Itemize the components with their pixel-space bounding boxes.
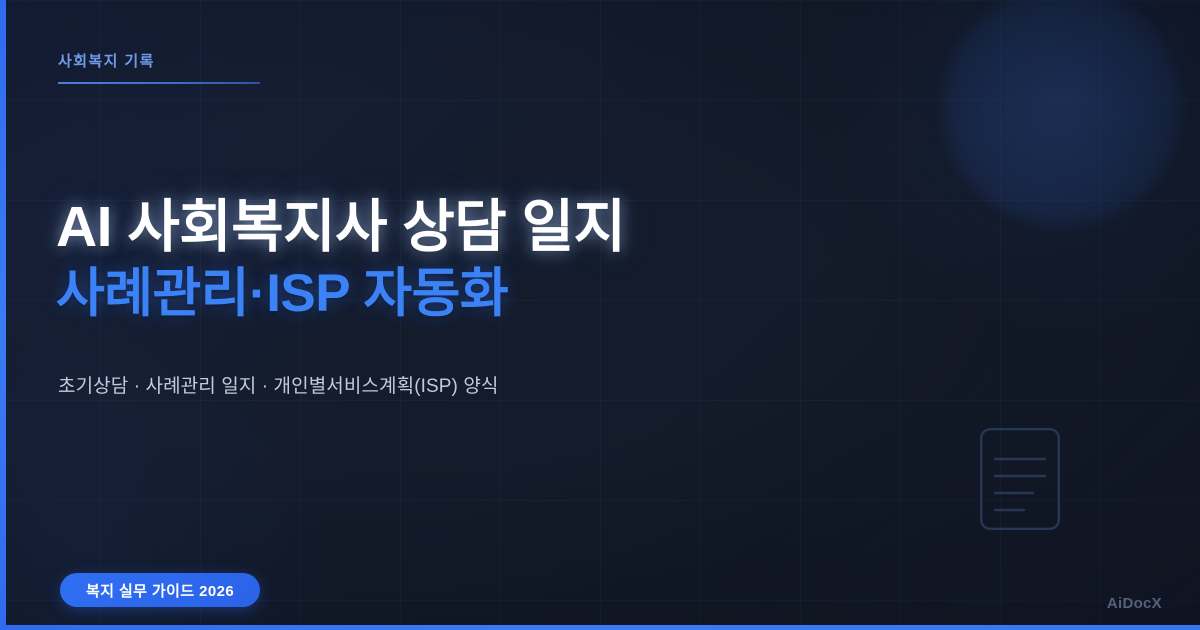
status-badge-label: 복지 실무 가이드 2026	[86, 580, 234, 601]
glow-circle-icon	[942, 0, 1182, 227]
title-line-secondary: 사례관리·ISP 자동화	[56, 264, 1016, 324]
eyebrow: 사회복지 기록	[58, 50, 260, 84]
page-title: AI 사회복지사 상담 일지 사례관리·ISP 자동화	[56, 196, 1016, 324]
eyebrow-underline	[58, 82, 260, 84]
eyebrow-label: 사회복지 기록	[58, 50, 260, 71]
document-lines-icon	[980, 428, 1060, 530]
title-line-primary: AI 사회복지사 상담 일지	[56, 196, 1016, 260]
subtitle: 초기상담 · 사례관리 일지 · 개인별서비스계획(ISP) 양식	[58, 371, 499, 398]
hero-banner: 사회복지 기록 AI 사회복지사 상담 일지 사례관리·ISP 자동화 초기상담…	[0, 0, 1200, 630]
left-accent-bar	[0, 0, 6, 630]
status-badge: 복지 실무 가이드 2026	[60, 573, 260, 607]
brand-watermark: AiDocX	[1107, 595, 1162, 612]
bottom-accent-bar	[0, 625, 1200, 630]
